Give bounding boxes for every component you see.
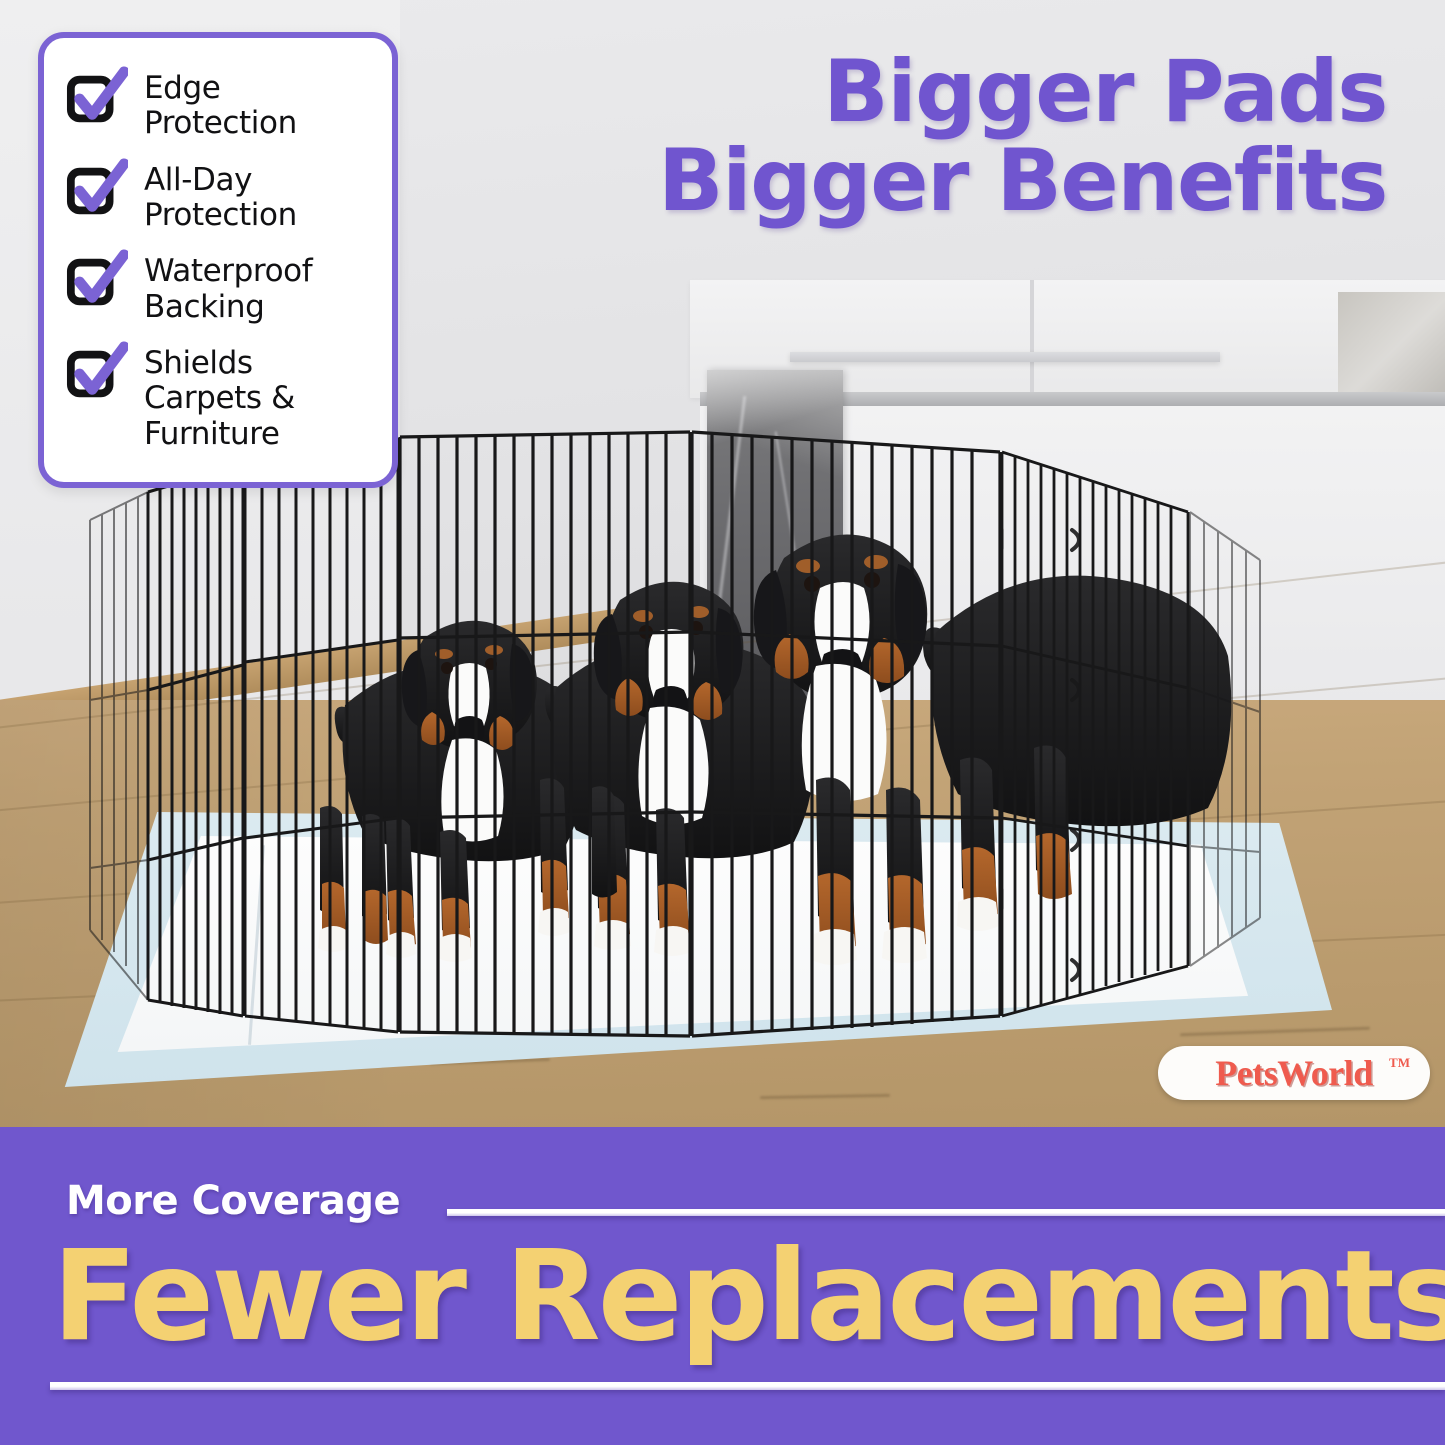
feature-item-waterproof-backing: Waterproof Backing bbox=[66, 253, 376, 325]
checkbox-check-icon bbox=[66, 72, 128, 128]
feature-label: Edge Protection bbox=[144, 70, 297, 142]
feature-label: All-Day Protection bbox=[144, 162, 297, 234]
feature-item-edge-protection: Edge Protection bbox=[66, 70, 376, 142]
checkbox-check-icon bbox=[66, 347, 128, 403]
brand-name: PetsWorld bbox=[1215, 1055, 1372, 1091]
feature-item-shields-carpets-furniture: Shields Carpets & Furniture bbox=[66, 345, 376, 452]
feature-list-card: Edge Protection All-Day Protection Water… bbox=[38, 32, 398, 488]
banner-rule-bottom bbox=[50, 1382, 1445, 1390]
banner-kicker: More Coverage bbox=[66, 1178, 400, 1224]
banner-headline: Fewer Replacements bbox=[52, 1234, 1445, 1359]
dog-right bbox=[754, 534, 1231, 965]
headline-line-2: Bigger Benefits bbox=[658, 137, 1387, 226]
feature-label: Waterproof Backing bbox=[144, 253, 312, 325]
checkbox-check-icon bbox=[66, 164, 128, 220]
trademark-symbol: TM bbox=[1389, 1055, 1410, 1071]
headline-line-1: Bigger Pads bbox=[658, 48, 1387, 137]
headline: Bigger Pads Bigger Benefits bbox=[658, 48, 1387, 227]
banner-rule-top bbox=[447, 1209, 1445, 1216]
feature-item-all-day-protection: All-Day Protection bbox=[66, 162, 376, 234]
brand-logo: PetsWorld TM bbox=[1158, 1046, 1430, 1100]
feature-label: Shields Carpets & Furniture bbox=[144, 345, 295, 452]
checkbox-check-icon bbox=[66, 255, 128, 311]
